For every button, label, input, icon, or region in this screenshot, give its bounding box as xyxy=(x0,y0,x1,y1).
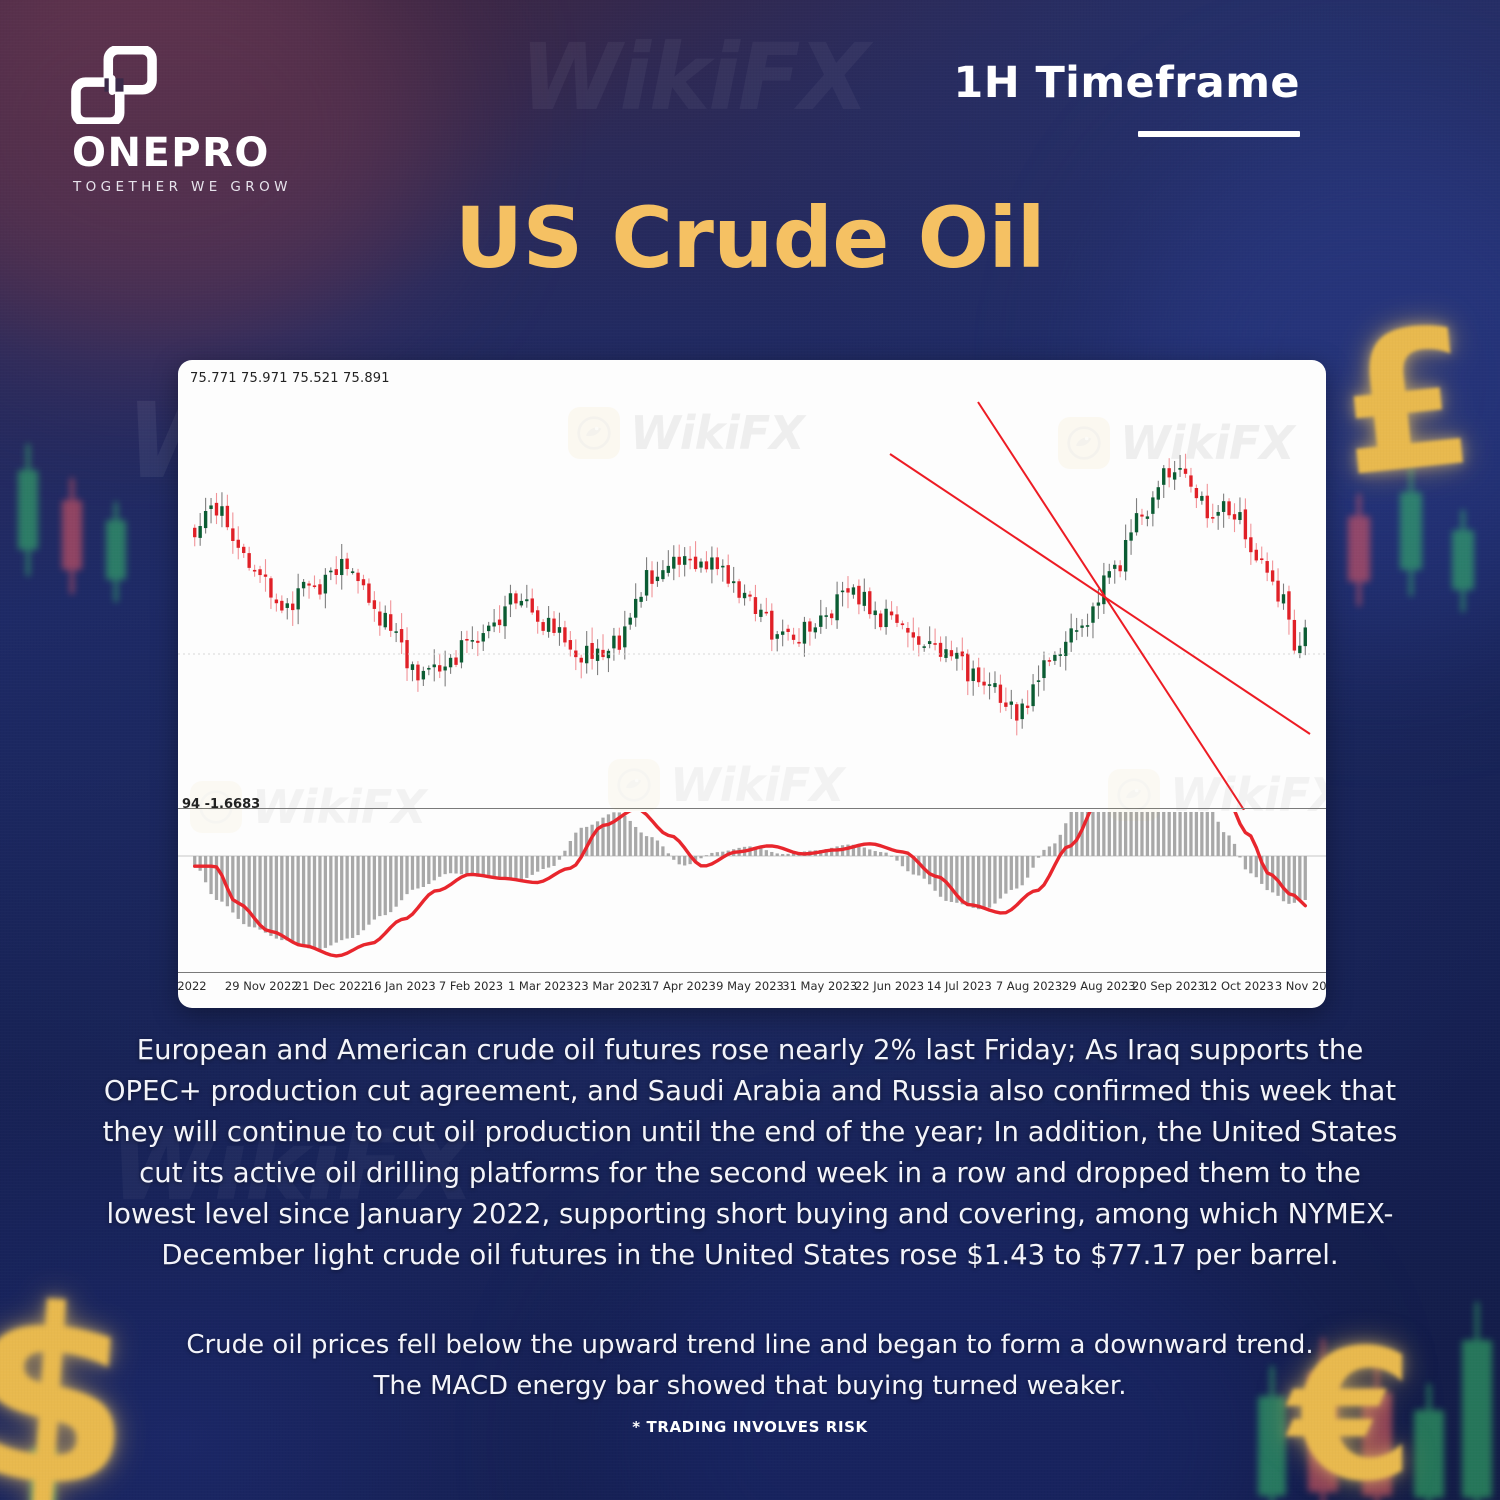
axis-tick-label: 23 Mar 2023 xyxy=(574,979,647,993)
axis-tick-label: 29 Nov 2022 xyxy=(225,979,299,993)
ohlc-readout: 75.771 75.971 75.521 75.891 xyxy=(190,371,390,386)
page-title: US Crude Oil xyxy=(0,196,1500,280)
risk-disclaimer: * TRADING INVOLVES RISK xyxy=(0,1418,1500,1436)
axis-tick-label: 16 Jan 2023 xyxy=(367,979,436,993)
x-axis: 202229 Nov 202221 Dec 202216 Jan 20237 F… xyxy=(178,976,1326,1006)
price-chart-panel[interactable]: WikiFX WikiFX WikiFX WikiFX WikiFX xyxy=(178,360,1326,1008)
axis-tick-label: 17 Apr 2023 xyxy=(645,979,716,993)
brand-logo: ONEPRO TOGETHER WE GROW xyxy=(70,46,300,195)
timeframe-underline xyxy=(1138,131,1300,137)
axis-tick-label: 9 May 2023 xyxy=(716,979,784,993)
axis-tick-label: 31 May 2023 xyxy=(782,979,857,993)
axis-tick-label: 3 Nov 2023 xyxy=(1275,979,1326,993)
axis-tick-label: 12 Oct 2023 xyxy=(1203,979,1274,993)
pane-divider-bottom xyxy=(178,972,1326,973)
axis-tick-label: 7 Aug 2023 xyxy=(996,979,1062,993)
article-paragraph: European and American crude oil futures … xyxy=(100,1030,1400,1276)
interlocking-squares-icon xyxy=(70,46,300,124)
axis-tick-label: 21 Dec 2022 xyxy=(295,979,368,993)
pane-divider-top xyxy=(178,808,1326,809)
axis-tick-label: 29 Aug 2023 xyxy=(1062,979,1136,993)
timeframe-block: 1H Timeframe xyxy=(953,62,1300,137)
macd-series xyxy=(178,812,1326,972)
brand-name: ONEPRO xyxy=(72,130,300,176)
brand-tagline: TOGETHER WE GROW xyxy=(73,179,300,195)
summary-line-1: Crude oil prices fell below the upward t… xyxy=(150,1325,1350,1366)
axis-tick-label: 1 Mar 2023 xyxy=(508,979,574,993)
axis-tick-label: 2022 xyxy=(178,979,207,993)
axis-tick-label: 14 Jul 2023 xyxy=(927,979,992,993)
macd-readout: 94 -1.6683 xyxy=(182,797,260,812)
candlestick-series xyxy=(178,386,1326,810)
timeframe-label: 1H Timeframe xyxy=(953,62,1300,105)
axis-tick-label: 20 Sep 2023 xyxy=(1132,979,1205,993)
axis-tick-label: 7 Feb 2023 xyxy=(439,979,503,993)
analysis-summary: Crude oil prices fell below the upward t… xyxy=(150,1325,1350,1407)
summary-line-2: The MACD energy bar showed that buying t… xyxy=(150,1366,1350,1407)
axis-tick-label: 22 Jun 2023 xyxy=(855,979,924,993)
